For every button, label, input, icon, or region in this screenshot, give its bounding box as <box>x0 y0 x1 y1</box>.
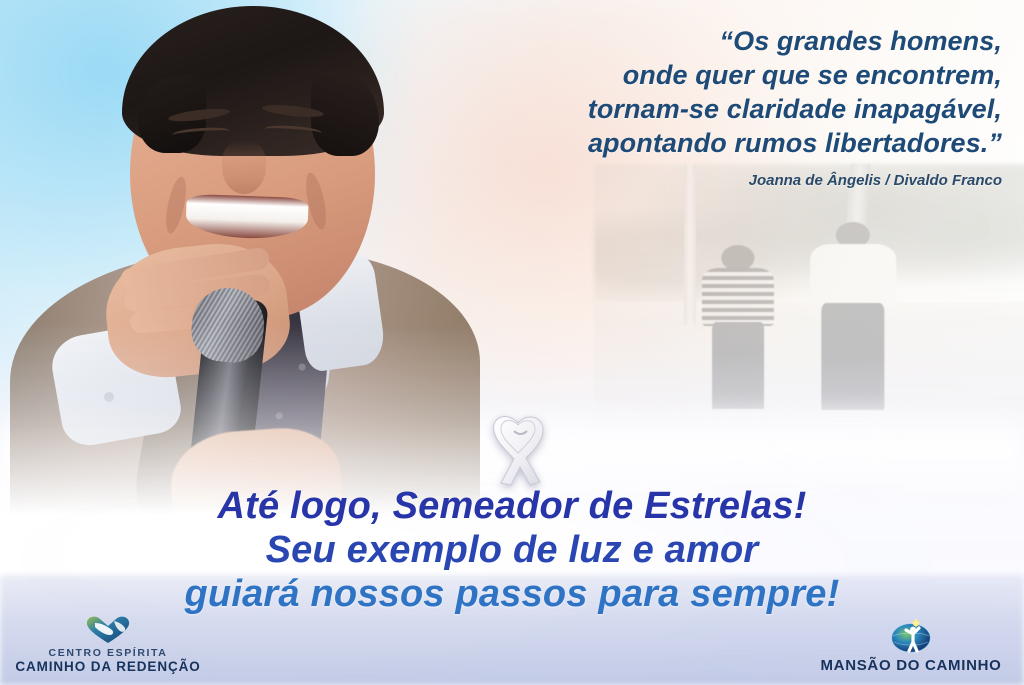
logo-mansao-do-caminho[interactable]: MANSÃO DO CAMINHO <box>806 618 1016 675</box>
globe-figure-star-icon <box>889 618 933 654</box>
logo-right-line-1: MANSÃO DO CAMINHO <box>806 657 1016 675</box>
quote-line-2: onde quer que se encontrem, <box>342 58 1002 92</box>
quote-line-4: apontando rumos libertadores.” <box>342 126 1002 160</box>
memorial-poster: “Os grandes homens, onde quer que se enc… <box>0 0 1024 685</box>
cuff-button <box>104 392 114 402</box>
headline-line-1: Até logo, Semeador de Estrelas! <box>0 484 1024 528</box>
heart-hands-icon <box>85 614 131 644</box>
quote-block: “Os grandes homens, onde quer que se enc… <box>342 24 1002 189</box>
quote-line-1: “Os grandes homens, <box>342 24 1002 58</box>
headline-line-2: Seu exemplo de luz e amor <box>0 528 1024 572</box>
headline-line-3: guiará nossos passos para sempre! <box>0 572 1024 616</box>
white-mourning-ribbon-icon <box>487 409 549 487</box>
nose <box>222 140 266 194</box>
headline-block: Até logo, Semeador de Estrelas! Seu exem… <box>0 484 1024 616</box>
logo-left-line-1: CENTRO ESPÍRITA <box>8 647 208 659</box>
quote-line-3: tornam-se claridade inapagável, <box>342 92 1002 126</box>
figure-white-shirt <box>810 244 896 307</box>
logo-centro-espirita[interactable]: CENTRO ESPÍRITA CAMINHO DA REDENÇÃO <box>8 614 208 675</box>
figure-striped-shirt <box>702 268 774 326</box>
quote-attribution: Joanna de Ângelis / Divaldo Franco <box>342 172 1002 189</box>
logo-left-line-2: CAMINHO DA REDENÇÃO <box>8 659 208 675</box>
